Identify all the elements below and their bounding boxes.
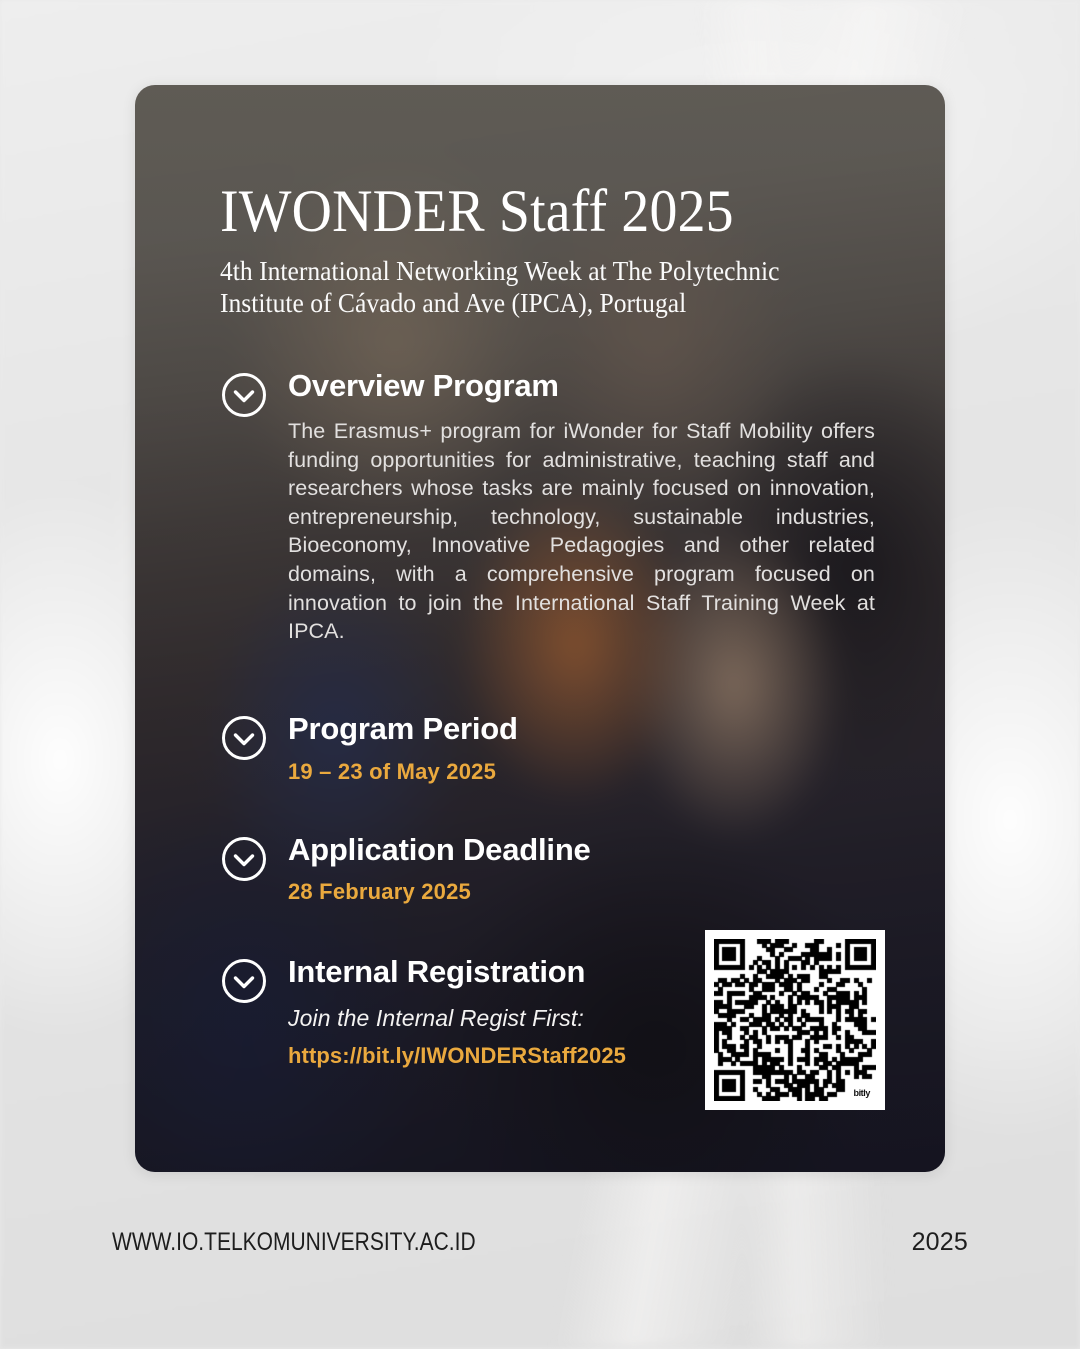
footer-website-url: WWW.IO.TELKOMUNIVERSITY.AC.ID bbox=[112, 1228, 476, 1257]
section-heading: Program Period bbox=[288, 712, 875, 747]
poster-page: IWONDER Staff 2025 4th International Net… bbox=[0, 0, 1080, 1349]
card-content: IWONDER Staff 2025 4th International Net… bbox=[135, 85, 945, 1172]
section-overview-program: Overview Program The Erasmus+ program fo… bbox=[220, 369, 875, 645]
section-body: Application Deadline 28 February 2025 bbox=[288, 833, 875, 906]
overview-paragraph: The Erasmus+ program for iWonder for Sta… bbox=[288, 417, 875, 646]
check-circle-icon bbox=[220, 835, 268, 883]
check-circle-icon bbox=[220, 714, 268, 762]
check-circle-icon bbox=[220, 957, 268, 1005]
section-heading: Overview Program bbox=[288, 369, 875, 404]
poster-card: IWONDER Staff 2025 4th International Net… bbox=[135, 85, 945, 1172]
qr-code-icon[interactable]: bitly bbox=[705, 930, 885, 1110]
section-body: Program Period 19 – 23 of May 2025 bbox=[288, 712, 875, 785]
program-period-date: 19 – 23 of May 2025 bbox=[288, 759, 875, 785]
footer-year: 2025 bbox=[912, 1228, 968, 1257]
section-body: Overview Program The Erasmus+ program fo… bbox=[288, 369, 875, 645]
application-deadline-date: 28 February 2025 bbox=[288, 879, 875, 905]
section-application-deadline: Application Deadline 28 February 2025 bbox=[220, 833, 875, 906]
poster-title: IWONDER Staff 2025 bbox=[220, 181, 829, 241]
check-circle-icon bbox=[220, 371, 268, 419]
qr-code-canvas bbox=[714, 939, 876, 1101]
section-program-period: Program Period 19 – 23 of May 2025 bbox=[220, 712, 875, 785]
section-heading: Application Deadline bbox=[288, 833, 875, 868]
qr-brand-label: bitly bbox=[851, 1087, 872, 1099]
footer: WWW.IO.TELKOMUNIVERSITY.AC.ID 2025 bbox=[112, 1228, 968, 1257]
poster-subtitle: 4th International Networking Week at The… bbox=[220, 255, 829, 319]
